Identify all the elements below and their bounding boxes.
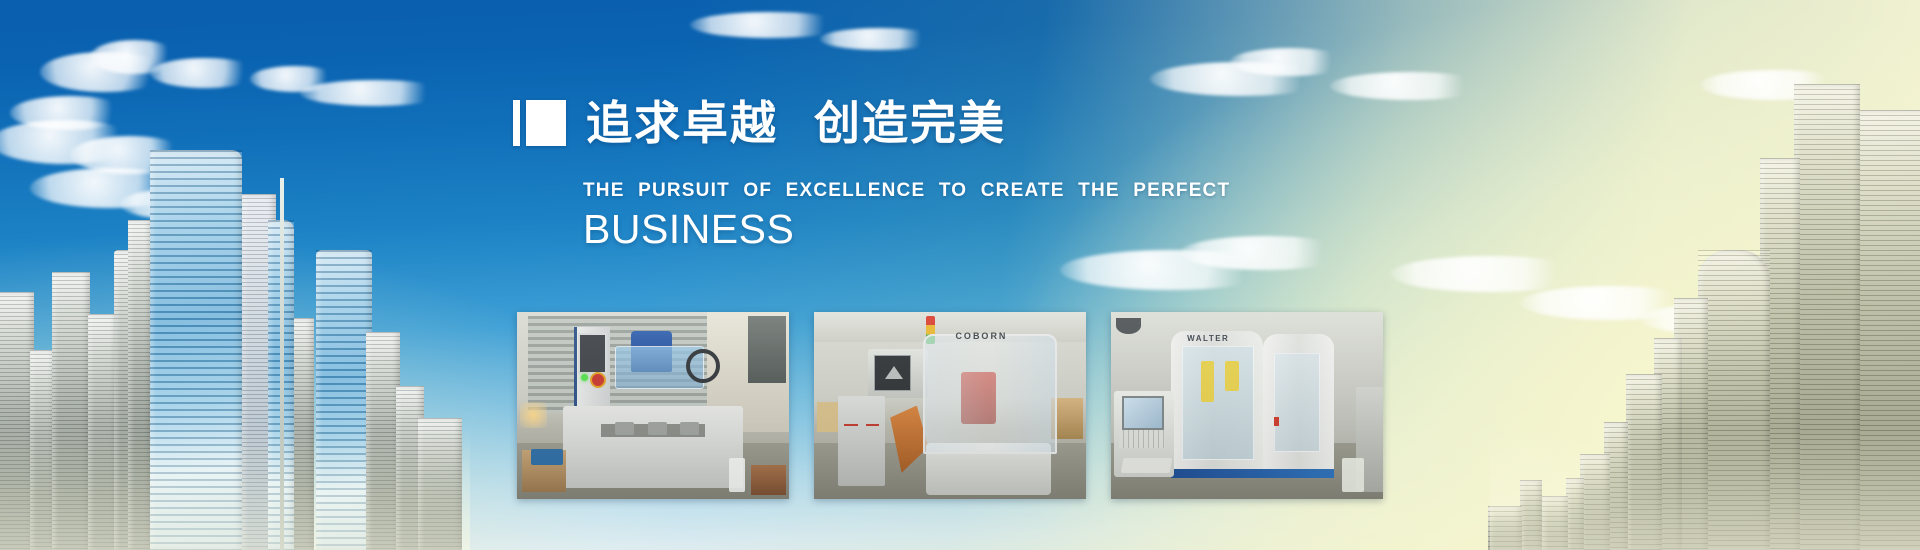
display-graphic-icon <box>885 366 903 379</box>
handwheel-icon <box>686 349 720 383</box>
banner-content: 追求卓越 创造完美 THE PURSUIT OF EXCELLENCE TO C… <box>0 0 1920 550</box>
photo-coborn-machine[interactable]: COBORN <box>814 312 1086 499</box>
cabinet-indicator <box>844 424 858 426</box>
storage-box-left <box>817 402 839 432</box>
subtitle-english: THE PURSUIT OF EXCELLENCE TO CREATE THE … <box>583 180 1230 202</box>
page-title: 追求卓越 创造完美 <box>586 100 1006 146</box>
control-panel <box>578 333 606 374</box>
enclosure-window-right <box>1274 353 1320 452</box>
subtitle-keyword: BUSINESS <box>583 206 794 253</box>
machine-brand-label: COBORN <box>955 331 1007 341</box>
console-display <box>1122 396 1164 430</box>
logo-bar-icon <box>513 100 520 146</box>
status-led-icon <box>1274 417 1279 426</box>
brand-stripe <box>1171 469 1334 478</box>
machine-base <box>563 406 743 488</box>
work-pot <box>680 422 699 435</box>
cabinet-indicator <box>866 424 880 426</box>
enclosure-window-main <box>1182 346 1255 460</box>
coolant-jug <box>729 458 745 492</box>
coolant-jug <box>1342 458 1364 492</box>
headline-row: 追求卓越 创造完美 <box>513 100 1006 146</box>
keyboard-tray <box>1121 458 1173 473</box>
hero-banner: 追求卓越 创造完美 THE PURSUIT OF EXCELLENCE TO C… <box>0 0 1920 550</box>
bar-square-logo-mark <box>513 100 566 146</box>
yellow-fixture <box>1225 361 1239 391</box>
warm-lamp-glow <box>520 402 547 428</box>
work-pot <box>615 422 634 435</box>
logo-square-icon <box>526 100 566 146</box>
work-pot <box>648 422 667 435</box>
wooden-desk <box>751 465 786 495</box>
blue-bin <box>531 449 564 466</box>
dark-curtain <box>748 316 786 383</box>
yellow-fixture <box>1201 361 1215 402</box>
photo-strip: COBORN WALTER <box>517 312 1383 499</box>
cylindrical-enclosure <box>923 334 1058 454</box>
console-keypad <box>1119 430 1165 449</box>
photo-surface-grinder[interactable] <box>517 312 789 499</box>
control-cabinet <box>838 396 884 486</box>
photo-walter-machine[interactable]: WALTER <box>1111 312 1383 499</box>
power-led-icon <box>581 374 588 381</box>
machine-brand-label: WALTER <box>1187 334 1229 343</box>
